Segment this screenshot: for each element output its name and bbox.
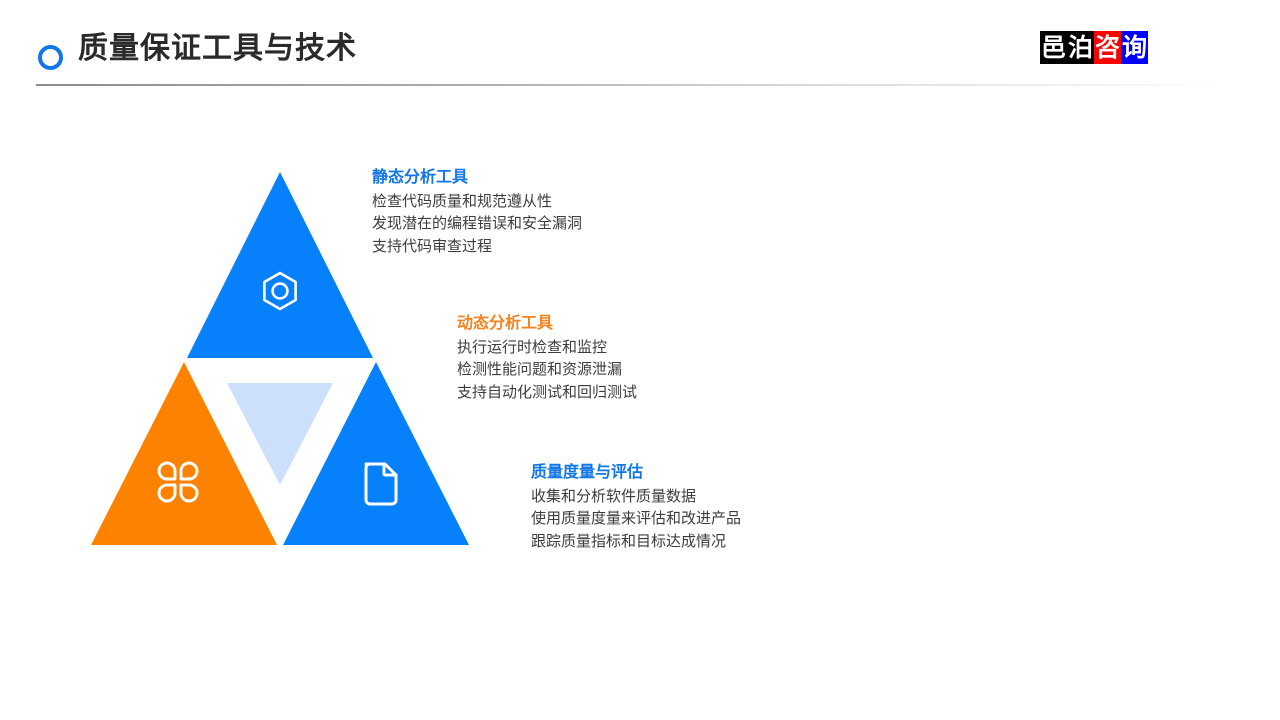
info-block-line: 跟踪质量指标和目标达成情况 (531, 531, 741, 553)
logo-char-1: 邑 (1040, 31, 1067, 64)
info-block-line: 发现潜在的编程错误和安全漏洞 (372, 213, 582, 235)
info-block-quality-metrics: 质量度量与评估 收集和分析软件质量数据 使用质量度量来评估和改进产品 跟踪质量指… (531, 462, 741, 553)
info-block-dynamic-analysis: 动态分析工具 执行运行时检查和监控 检测性能问题和资源泄漏 支持自动化测试和回归… (457, 313, 637, 404)
triangle-center (227, 383, 333, 485)
circle-outline-icon (38, 45, 63, 70)
info-block-line: 检测性能问题和资源泄漏 (457, 359, 637, 381)
info-block-line: 收集和分析软件质量数据 (531, 486, 741, 508)
logo-char-4: 询 (1121, 31, 1148, 64)
triangle-top (187, 172, 373, 358)
logo-char-2: 泊 (1067, 31, 1094, 64)
info-block-line: 支持代码审查过程 (372, 236, 582, 258)
info-block-line: 使用质量度量来评估和改进产品 (531, 508, 741, 530)
info-block-line: 检查代码质量和规范遵从性 (372, 191, 582, 213)
brand-logo: 邑 泊 咨 询 (1040, 31, 1148, 64)
info-block-heading: 动态分析工具 (457, 313, 637, 335)
info-block-static-analysis: 静态分析工具 检查代码质量和规范遵从性 发现潜在的编程错误和安全漏洞 支持代码审… (372, 167, 582, 258)
logo-char-3: 咨 (1094, 31, 1121, 64)
page-header: 质量保证工具与技术 邑 泊 咨 询 (0, 0, 1280, 90)
info-block-heading: 静态分析工具 (372, 167, 582, 189)
info-block-line: 支持自动化测试和回归测试 (457, 382, 637, 404)
info-block-heading: 质量度量与评估 (531, 462, 741, 484)
info-block-line: 执行运行时检查和监控 (457, 337, 637, 359)
header-divider (36, 84, 1236, 86)
page-title: 质量保证工具与技术 (78, 27, 357, 71)
